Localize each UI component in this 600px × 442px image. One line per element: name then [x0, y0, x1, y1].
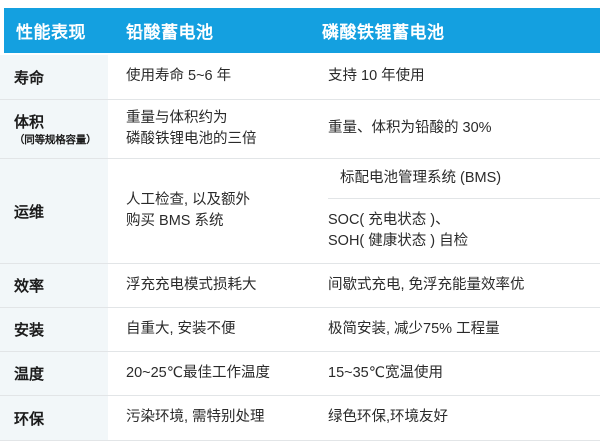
- row-label-cell: 效率: [0, 264, 108, 307]
- lifepo4-cell: 支持 10 年使用: [316, 55, 600, 99]
- cell-text-line: SOH( 健康状态 ) 自检: [328, 231, 592, 252]
- lead-acid-cell: 重量与体积约为 磷酸铁锂电池的三倍: [108, 100, 316, 158]
- column-header-performance: 性能表现: [4, 18, 126, 43]
- cell-text-line: 重量与体积约为: [126, 108, 308, 129]
- lifepo4-cell: 标配电池管理系统 (BMS) SOC( 充电状态 )、 SOH( 健康状态 ) …: [316, 159, 600, 263]
- table-row: 效率 浮充充电模式损耗大 间歇式充电, 免浮充能量效率优: [0, 264, 600, 308]
- cell-text-line: 污染环境, 需特别处理: [126, 407, 308, 428]
- lead-acid-cell: 浮充充电模式损耗大: [108, 264, 316, 307]
- lead-acid-cell: 污染环境, 需特别处理: [108, 396, 316, 440]
- cell-text-line: 使用寿命 5~6 年: [126, 66, 308, 87]
- lead-acid-cell: 人工检查, 以及额外 购买 BMS 系统: [108, 159, 316, 263]
- cell-text-line: 20~25℃最佳工作温度: [126, 363, 308, 384]
- cell-text-line: 绿色环保,环境友好: [328, 407, 592, 428]
- cell-text-line: 人工检查, 以及额外: [126, 190, 308, 211]
- cell-text-line: 标配电池管理系统 (BMS): [340, 168, 592, 189]
- table-header-row: 性能表现 铅酸蓄电池 磷酸铁锂蓄电池: [4, 8, 600, 53]
- row-label-cell: 温度: [0, 352, 108, 395]
- row-label: 安装: [14, 319, 104, 340]
- row-label-cell: 寿命: [0, 55, 108, 99]
- cell-text-line: 极简安装, 减少75% 工程量: [328, 319, 592, 340]
- table-row: 温度 20~25℃最佳工作温度 15~35℃宽温使用: [0, 352, 600, 396]
- lead-acid-cell: 20~25℃最佳工作温度: [108, 352, 316, 395]
- cell-text-line: 自重大, 安装不便: [126, 319, 308, 340]
- lifepo4-cell: 绿色环保,环境友好: [316, 396, 600, 440]
- row-label: 体积: [14, 111, 104, 132]
- column-header-lifepo4: 磷酸铁锂蓄电池: [322, 18, 600, 43]
- cell-text-line: 磷酸铁锂电池的三倍: [126, 129, 308, 150]
- cell-text-line: 15~35℃宽温使用: [328, 363, 592, 384]
- table-row: 环保 污染环境, 需特别处理 绿色环保,环境友好: [0, 396, 600, 441]
- row-label: 效率: [14, 275, 104, 296]
- lead-acid-cell: 自重大, 安装不便: [108, 308, 316, 351]
- lifepo4-cell: 极简安装, 减少75% 工程量: [316, 308, 600, 351]
- lead-acid-cell: 使用寿命 5~6 年: [108, 55, 316, 99]
- cell-text-line: 支持 10 年使用: [328, 66, 592, 87]
- row-label-cell: 安装: [0, 308, 108, 351]
- row-label: 寿命: [14, 67, 104, 88]
- table-row: 寿命 使用寿命 5~6 年 支持 10 年使用: [0, 55, 600, 100]
- battery-comparison-table: 性能表现 铅酸蓄电池 磷酸铁锂蓄电池 寿命 使用寿命 5~6 年 支持 10 年…: [0, 0, 600, 442]
- cell-text-line: SOC( 充电状态 )、: [328, 210, 592, 231]
- row-label-cell: 环保: [0, 396, 108, 440]
- row-label-cell: 运维: [0, 159, 108, 263]
- lifepo4-cell: 15~35℃宽温使用: [316, 352, 600, 395]
- lifepo4-cell: 间歇式充电, 免浮充能量效率优: [316, 264, 600, 307]
- cell-text-line: 间歇式充电, 免浮充能量效率优: [328, 275, 592, 296]
- row-label: 温度: [14, 363, 104, 384]
- table-row: 安装 自重大, 安装不便 极简安装, 减少75% 工程量: [0, 308, 600, 352]
- table-row: 运维 人工检查, 以及额外 购买 BMS 系统 标配电池管理系统 (BMS) S…: [0, 159, 600, 264]
- row-label: 环保: [14, 408, 104, 429]
- table-row: 体积 （同等规格容量） 重量与体积约为 磷酸铁锂电池的三倍 重量、体积为铅酸的 …: [0, 100, 600, 159]
- lifepo4-subcell-bms: 标配电池管理系统 (BMS): [328, 159, 600, 199]
- column-header-lead-acid: 铅酸蓄电池: [126, 18, 322, 43]
- row-label: 运维: [14, 201, 104, 222]
- cell-text-line: 重量、体积为铅酸的 30%: [328, 118, 592, 139]
- row-sublabel: （同等规格容量）: [14, 133, 104, 147]
- row-label-cell: 体积 （同等规格容量）: [0, 100, 108, 158]
- table-body: 寿命 使用寿命 5~6 年 支持 10 年使用 体积 （同等规格容量） 重量与体…: [0, 55, 600, 441]
- lifepo4-subcell-soc-soh: SOC( 充电状态 )、 SOH( 健康状态 ) 自检: [316, 199, 600, 263]
- cell-text-line: 购买 BMS 系统: [126, 211, 308, 232]
- lifepo4-cell: 重量、体积为铅酸的 30%: [316, 100, 600, 158]
- cell-text-line: 浮充充电模式损耗大: [126, 275, 308, 296]
